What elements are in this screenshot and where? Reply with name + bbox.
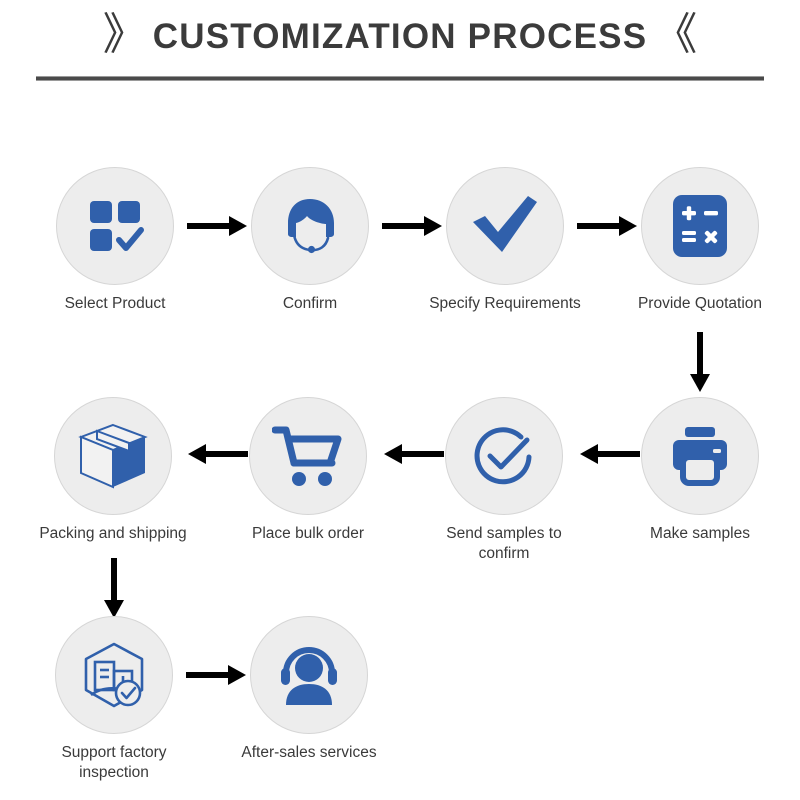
step-label: Make samples xyxy=(620,524,780,544)
circle-check-icon xyxy=(469,421,539,491)
package-box-icon xyxy=(77,421,149,491)
step-label: Packing and shipping xyxy=(33,524,193,544)
step-icon-circle xyxy=(54,397,172,515)
step-specify-requirements[interactable]: Specify Requirements xyxy=(425,167,585,314)
headset-operator-icon xyxy=(276,192,344,260)
step-icon-circle xyxy=(641,167,759,285)
factory-inspection-icon xyxy=(79,640,149,710)
step-icon-circle xyxy=(55,616,173,734)
shopping-cart-icon xyxy=(272,423,344,489)
step-icon-circle xyxy=(250,616,368,734)
step-icon-circle xyxy=(446,167,564,285)
step-make-samples[interactable]: Make samples xyxy=(620,397,780,544)
step-icon-circle xyxy=(56,167,174,285)
step-confirm[interactable]: Confirm xyxy=(230,167,390,314)
step-icon-circle xyxy=(445,397,563,515)
step-icon-circle xyxy=(249,397,367,515)
page-title: CUSTOMIZATION PROCESS xyxy=(153,17,648,57)
calculator-icon xyxy=(669,192,731,260)
title-divider xyxy=(36,76,764,81)
chevron-left-double-icon: 《 xyxy=(653,13,697,57)
page-header: 》 CUSTOMIZATION PROCESS 《 xyxy=(0,0,800,92)
step-place-bulk-order[interactable]: Place bulk order xyxy=(228,397,388,544)
arrow-row1-to-row2 xyxy=(686,332,714,394)
step-icon-circle xyxy=(641,397,759,515)
step-select-product[interactable]: Select Product xyxy=(35,167,195,314)
title-row: 》 CUSTOMIZATION PROCESS 《 xyxy=(0,8,800,66)
arrow-row2-to-row3 xyxy=(100,558,128,620)
step-label: Select Product xyxy=(35,294,195,314)
step-packing-and-shipping[interactable]: Packing and shipping xyxy=(33,397,193,544)
checkmark-icon xyxy=(469,194,541,258)
step-label: Send samples to confirm xyxy=(424,524,584,564)
step-provide-quotation[interactable]: Provide Quotation xyxy=(620,167,780,314)
step-label: Confirm xyxy=(230,294,390,314)
step-label: Provide Quotation xyxy=(620,294,780,314)
chevron-right-double-icon: 》 xyxy=(103,13,147,57)
step-label: Place bulk order xyxy=(228,524,388,544)
step-label: Support factory inspection xyxy=(34,743,194,783)
step-support-factory-inspection[interactable]: Support factory inspection xyxy=(34,616,194,783)
support-agent-icon xyxy=(274,643,344,707)
step-send-samples-to-confirm[interactable]: Send samples to confirm xyxy=(424,397,584,564)
step-label: Specify Requirements xyxy=(425,294,585,314)
step-icon-circle xyxy=(251,167,369,285)
printer-icon xyxy=(666,424,734,488)
step-after-sales-services[interactable]: After-sales services xyxy=(229,616,389,763)
grid-check-icon xyxy=(82,193,148,259)
step-label: After-sales services xyxy=(229,743,389,763)
